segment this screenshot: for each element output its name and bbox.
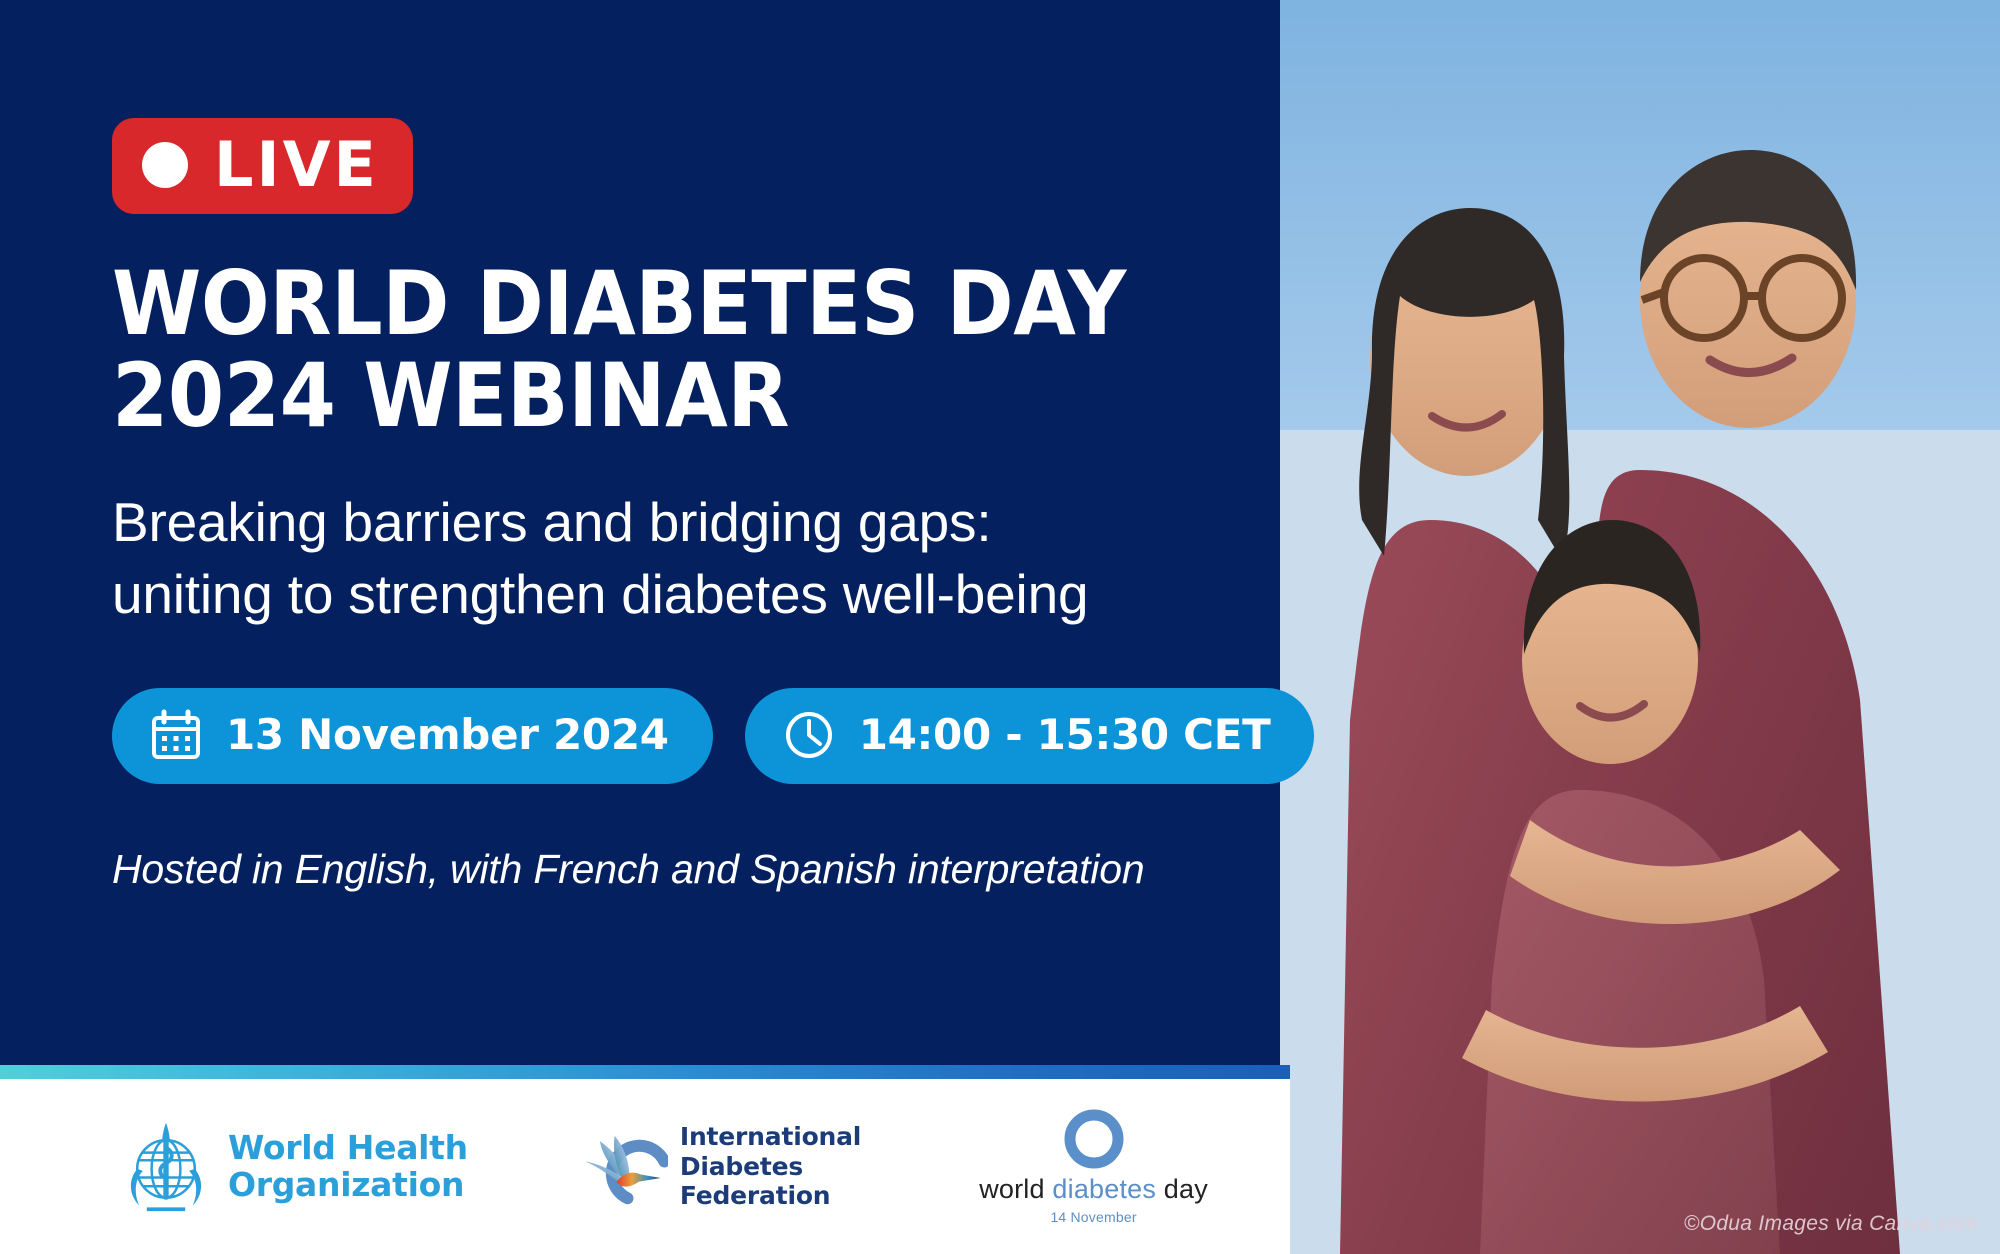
who-wordmark: World Health Organization bbox=[228, 1130, 468, 1204]
headline-line-1: WORLD DIABETES DAY bbox=[112, 252, 1126, 355]
live-badge: LIVE bbox=[112, 118, 413, 214]
wdd-word-2: diabetes bbox=[1052, 1174, 1156, 1204]
wdd-date-label: 14 November bbox=[1050, 1209, 1136, 1225]
family-photo-illustration bbox=[1280, 0, 2000, 1254]
subheadline-line-2: uniting to strengthen diabetes well-bein… bbox=[112, 559, 1290, 631]
wdd-word-1: world bbox=[979, 1174, 1052, 1204]
page-title: WORLD DIABETES DAY 2024 WEBINAR bbox=[112, 258, 1196, 441]
subheadline: Breaking barriers and bridging gaps: uni… bbox=[112, 487, 1290, 630]
gradient-accent-bar bbox=[0, 1065, 1290, 1079]
wdd-word-3: day bbox=[1156, 1174, 1208, 1204]
language-note: Hosted in English, with French and Spani… bbox=[112, 846, 1290, 893]
time-pill[interactable]: 14:00 - 15:30 CET bbox=[745, 688, 1315, 784]
who-line-1: World Health bbox=[228, 1128, 468, 1167]
idf-logo: International Diabetes Federation bbox=[576, 1121, 861, 1213]
calendar-icon bbox=[150, 709, 202, 761]
family-photo: ©Odua Images via Canva.com bbox=[1280, 0, 2000, 1254]
world-diabetes-day-logo: world diabetes day 14 November bbox=[979, 1108, 1208, 1225]
clock-icon bbox=[783, 709, 835, 761]
blue-circle-icon bbox=[1063, 1108, 1125, 1170]
idf-hummingbird-icon bbox=[576, 1121, 668, 1213]
event-details: 13 November 2024 14:00 - 15:30 CET bbox=[112, 688, 1290, 784]
who-logo: World Health Organization bbox=[118, 1119, 468, 1215]
live-badge-label: LIVE bbox=[214, 134, 379, 196]
who-emblem-icon bbox=[118, 1119, 214, 1215]
webinar-promo-banner: ©Odua Images via Canva.com LIVE WORLD DI… bbox=[0, 0, 2000, 1254]
idf-wordmark: International Diabetes Federation bbox=[680, 1122, 861, 1211]
idf-line-2: Diabetes bbox=[680, 1152, 861, 1182]
photo-credit: ©Odua Images via Canva.com bbox=[1684, 1212, 1978, 1236]
idf-line-1: International bbox=[680, 1122, 861, 1152]
subheadline-line-1: Breaking barriers and bridging gaps: bbox=[112, 491, 991, 553]
time-pill-label: 14:00 - 15:30 CET bbox=[859, 714, 1271, 756]
who-line-2: Organization bbox=[228, 1167, 468, 1204]
record-dot-icon bbox=[142, 142, 188, 188]
headline-line-2: 2024 WEBINAR bbox=[112, 350, 1196, 442]
idf-line-3: Federation bbox=[680, 1181, 861, 1211]
date-pill[interactable]: 13 November 2024 bbox=[112, 688, 713, 784]
wdd-wordmark: world diabetes day bbox=[979, 1174, 1208, 1205]
footer-logos: World Health Organization bbox=[0, 1079, 1290, 1254]
date-pill-label: 13 November 2024 bbox=[226, 714, 669, 756]
main-content: LIVE WORLD DIABETES DAY 2024 WEBINAR Bre… bbox=[0, 0, 1290, 1075]
